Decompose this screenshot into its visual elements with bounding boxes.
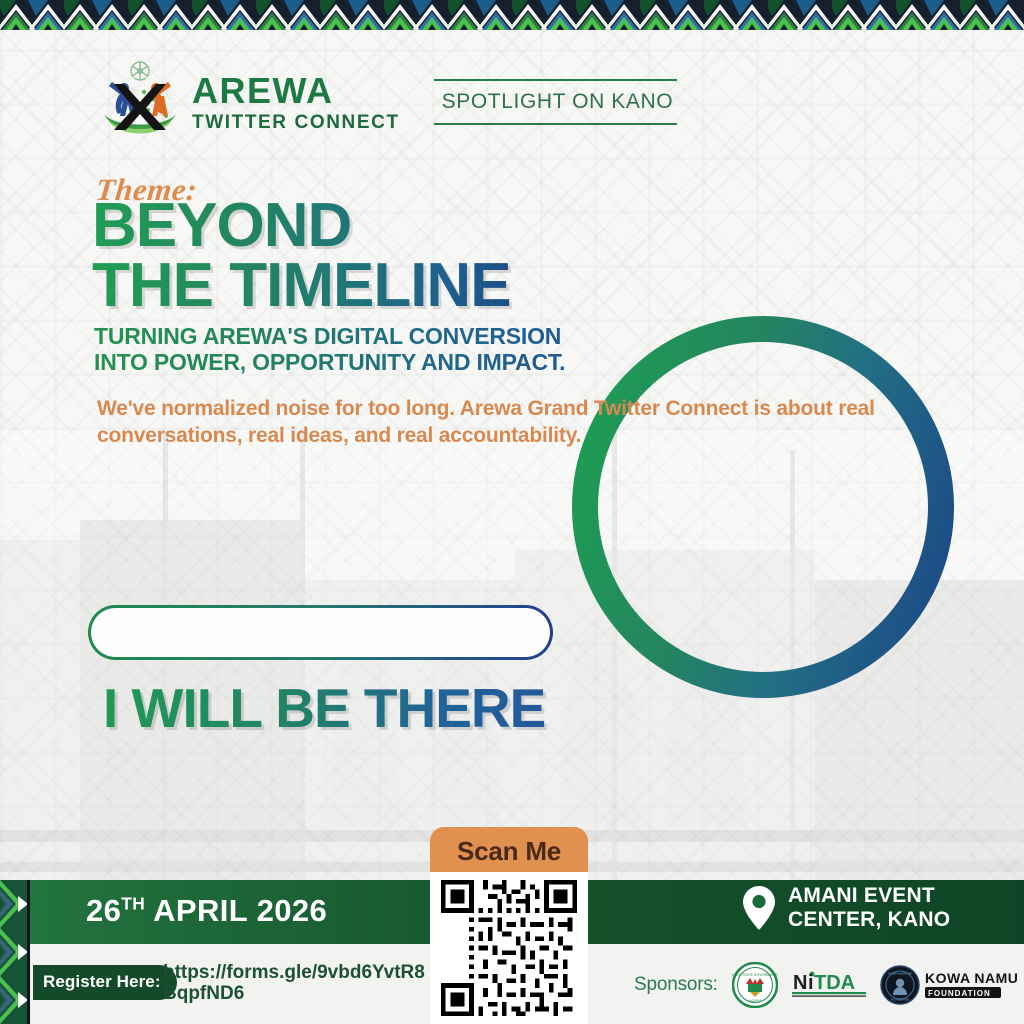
register-url[interactable]: https://forms.gle/9vbd6YvtR8BqpfND6 (163, 962, 428, 1005)
title-line-2: THE TIMELINE (92, 256, 511, 316)
brand-name: AREWA (192, 73, 400, 109)
chevron-border-top (0, 0, 1024, 30)
sponsors-label: Sponsors: (634, 974, 718, 996)
svg-text:TDA: TDA (814, 972, 855, 994)
scan-me-label: Scan Me (430, 827, 588, 875)
kowa-namu-ne-logo-icon: KOWA NAMU NE FOUNDATION KOWA NAMU NE FOU… (880, 965, 1021, 1005)
sponsors-row: Sponsors: KANO STATE GOVERNMENT NIGERIA … (634, 962, 1021, 1008)
svg-text:FOUNDATION: FOUNDATION (891, 998, 909, 1002)
brand-header: AREWA TWITTER CONNECT SPOTLIGHT ON KANO (96, 58, 677, 146)
svg-text:i: i (808, 972, 814, 994)
qr-code-icon[interactable] (438, 880, 580, 1016)
chevron-border-left (0, 880, 30, 1024)
subtitle: TURNING AREWA'S DIGITAL CONVERSION INTO … (94, 324, 565, 376)
kano-state-seal-icon: KANO STATE GOVERNMENT NIGERIA (732, 962, 778, 1008)
venue-line-2: CENTER, KANO (788, 908, 950, 932)
venue-line-1: AMANI EVENT (788, 884, 950, 908)
event-date: 26TH APRIL 2026 (86, 893, 327, 929)
date-ordinal: TH (121, 894, 145, 914)
svg-text:FOUNDATION: FOUNDATION (928, 989, 991, 998)
svg-text:KOWA NAMU NE: KOWA NAMU NE (925, 970, 1021, 986)
svg-text:NIGERIA: NIGERIA (748, 999, 762, 1003)
register-here-label: Register Here: (33, 965, 177, 1000)
event-flyer: AREWA TWITTER CONNECT SPOTLIGHT ON KANO … (0, 0, 1024, 1024)
photo-placeholder-ring (568, 312, 958, 702)
title-line-1: BEYOND (92, 191, 351, 260)
svg-text:KANO STATE GOVERNMENT: KANO STATE GOVERNMENT (732, 973, 778, 977)
brand-subtitle: TWITTER CONNECT (192, 113, 400, 132)
subtitle-line-2: INTO POWER, OPPORTUNITY AND IMPACT. (94, 350, 565, 376)
event-venue: AMANI EVENT CENTER, KANO (742, 884, 950, 932)
location-pin-icon (742, 885, 776, 931)
subtitle-line-1: TURNING AREWA'S DIGITAL CONVERSION (94, 324, 565, 350)
qr-code-container[interactable] (430, 872, 588, 1024)
pledge-text: I WILL BE THERE (103, 676, 545, 740)
description-blurb: We've normalized noise for too long. Are… (97, 396, 1024, 450)
spotlight-banner: SPOTLIGHT ON KANO (434, 79, 678, 125)
date-number: 26 (86, 893, 121, 928)
svg-text:N: N (793, 972, 807, 994)
nitda-logo-icon: N i TDA (792, 968, 866, 1002)
page-title: BEYOND THE TIMELINE (92, 196, 511, 315)
date-rest: APRIL 2026 (145, 893, 327, 928)
venue-text: AMANI EVENT CENTER, KANO (788, 884, 950, 932)
svg-text:KOWA NAMU NE: KOWA NAMU NE (888, 972, 912, 976)
attendee-name-input[interactable] (88, 605, 553, 660)
arewa-x-logo-icon (96, 58, 184, 146)
